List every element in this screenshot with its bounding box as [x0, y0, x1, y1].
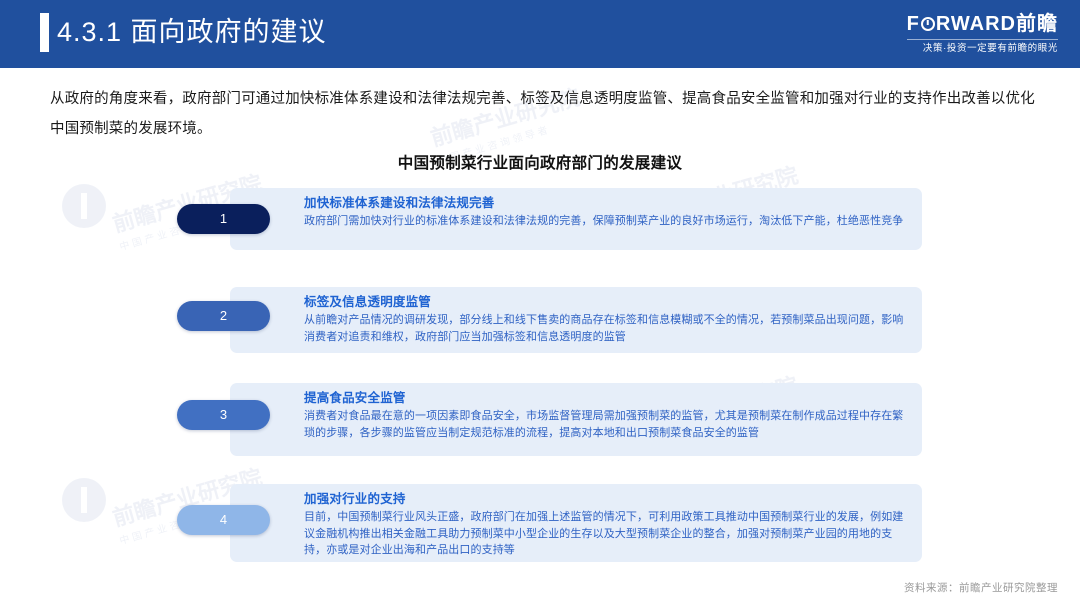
item-text-block: 加强对行业的支持 目前，中国预制菜行业风头正盛，政府部门在加强上述监管的情况下，…	[304, 490, 904, 559]
watermark-logo	[62, 184, 106, 228]
item-heading: 标签及信息透明度监管	[304, 293, 904, 311]
chart-title: 中国预制菜行业面向政府部门的发展建议	[0, 151, 1080, 173]
item-heading: 加强对行业的支持	[304, 490, 904, 508]
page-header: 4.3.1 面向政府的建议 FRWARD前瞻 决策·投资一定要有前瞻的眼光	[0, 0, 1080, 68]
item-text-block: 标签及信息透明度监管 从前瞻对产品情况的调研发现，部分线上和线下售卖的商品存在标…	[304, 293, 904, 345]
item-text-block: 提高食品安全监管 消费者对食品最在意的一项因素即食品安全，市场监督管理局需加强预…	[304, 389, 904, 441]
item-number-badge: 1	[177, 204, 270, 234]
intro-paragraph: 从政府的角度来看，政府部门可通过加快标准体系建设和法律法规完善、标签及信息透明度…	[50, 84, 1040, 144]
item-number-badge: 2	[177, 301, 270, 331]
item-body: 消费者对食品最在意的一项因素即食品安全，市场监督管理局需加强预制菜的监管，尤其是…	[304, 408, 904, 441]
brand-name-right: RWARD前瞻	[936, 13, 1058, 35]
brand-name: FRWARD前瞻	[907, 12, 1058, 36]
item-number-badge: 4	[177, 505, 270, 535]
item-number-badge: 3	[177, 400, 270, 430]
item-text-block: 加快标准体系建设和法律法规完善 政府部门需加快对行业的标准体系建设和法律法规的完…	[304, 194, 904, 230]
title-accent-bar	[40, 13, 49, 52]
item-body: 从前瞻对产品情况的调研发现，部分线上和线下售卖的商品存在标签和信息模糊或不全的情…	[304, 312, 904, 345]
source-note: 资料来源：前瞻产业研究院整理	[904, 580, 1058, 595]
item-body: 目前，中国预制菜行业风头正盛，政府部门在加强上述监管的情况下，可利用政策工具推动…	[304, 509, 904, 559]
brand-tagline: 决策·投资一定要有前瞻的眼光	[907, 42, 1058, 56]
item-body: 政府部门需加快对行业的标准体系建设和法律法规的完善，保障预制菜产业的良好市场运行…	[304, 213, 904, 230]
watermark-logo	[62, 478, 106, 522]
item-heading: 提高食品安全监管	[304, 389, 904, 407]
item-heading: 加快标准体系建设和法律法规完善	[304, 194, 904, 212]
brand-name-left: F	[907, 13, 920, 35]
brand-logo: FRWARD前瞻 决策·投资一定要有前瞻的眼光	[907, 12, 1058, 56]
page-title: 4.3.1 面向政府的建议	[57, 12, 327, 52]
brand-divider	[907, 39, 1058, 40]
forward-circle-logo-icon	[921, 17, 935, 31]
